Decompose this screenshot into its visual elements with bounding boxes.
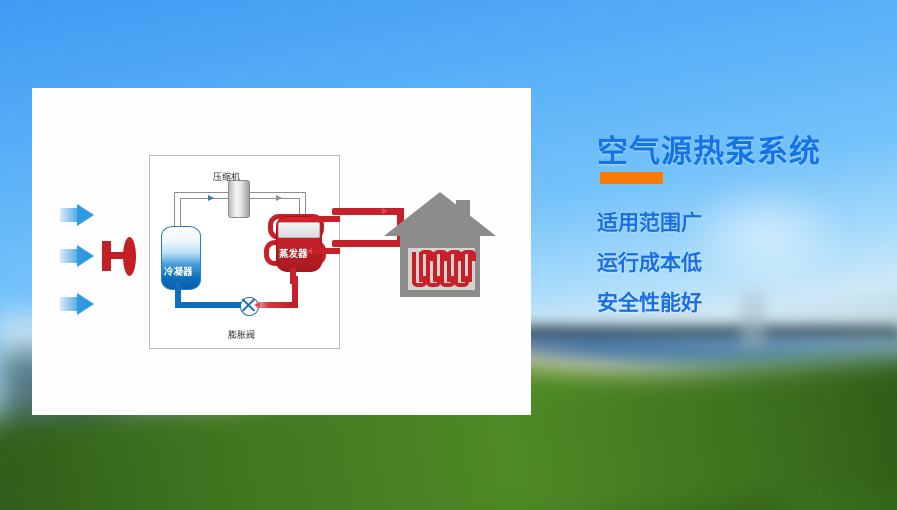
air-arrow-bottom (60, 293, 94, 315)
feature-bullet-1: 适用范围广 (597, 207, 702, 237)
page-title: 空气源热泵系统 (597, 126, 821, 171)
flow-arrow-condenser-out (175, 282, 181, 288)
expansion-valve-label: 膨胀阀 (228, 328, 255, 341)
air-arrow-middle (60, 245, 94, 267)
flow-arrow-compressor-in (208, 195, 214, 201)
air-arrow-top (60, 204, 94, 226)
fan-icon (102, 237, 136, 276)
slide-stage: 压缩机 冷凝器 (0, 0, 897, 510)
condenser (161, 226, 201, 290)
floor-coil-riser-9 (468, 252, 472, 282)
hot-pipe-out-lower (310, 248, 340, 254)
house-with-floor-heating (384, 192, 496, 300)
arrow-tail (60, 249, 78, 263)
gas-pipe-top-left-2 (174, 192, 228, 193)
house-chimney (456, 200, 470, 234)
cold-pipe-bottom (175, 302, 248, 308)
feature-bullet-3: 安全性能好 (597, 287, 702, 317)
gas-pipe-left-up (180, 198, 181, 228)
compressor (228, 180, 250, 218)
flow-arrow-valve-in (254, 302, 260, 308)
arrow-head (77, 204, 94, 226)
gas-pipe-top-left (180, 198, 228, 199)
heat-pump-cycle-diagram: 压缩机 冷凝器 (149, 155, 340, 349)
evaporator-plate (278, 222, 320, 238)
evaporator-label: 蒸发器 (279, 246, 308, 260)
floor-heating-area (408, 248, 475, 290)
accent-bar (600, 172, 663, 184)
background-tower (740, 290, 766, 350)
gas-pipe-top-right (248, 198, 300, 199)
fan-blade (123, 237, 136, 276)
hot-pipe-evap-down (290, 268, 296, 284)
flow-arrow-compressor-out (276, 195, 282, 201)
flow-arrow-evap-in (306, 248, 312, 254)
background-haze-blob (680, 180, 850, 290)
arrow-tail (60, 208, 78, 222)
hot-pipe-out-upper (310, 216, 340, 222)
arrow-head (77, 245, 94, 267)
gas-pipe-left-up-2 (174, 192, 175, 228)
gas-pipe-top-right-2 (248, 192, 306, 193)
diagram-card: 压缩机 冷凝器 (32, 88, 531, 415)
house-roof (384, 192, 496, 236)
arrow-tail (60, 297, 78, 311)
condenser-label: 冷凝器 (164, 264, 193, 278)
feature-bullet-2: 运行成本低 (597, 247, 702, 277)
arrow-head (77, 293, 94, 315)
